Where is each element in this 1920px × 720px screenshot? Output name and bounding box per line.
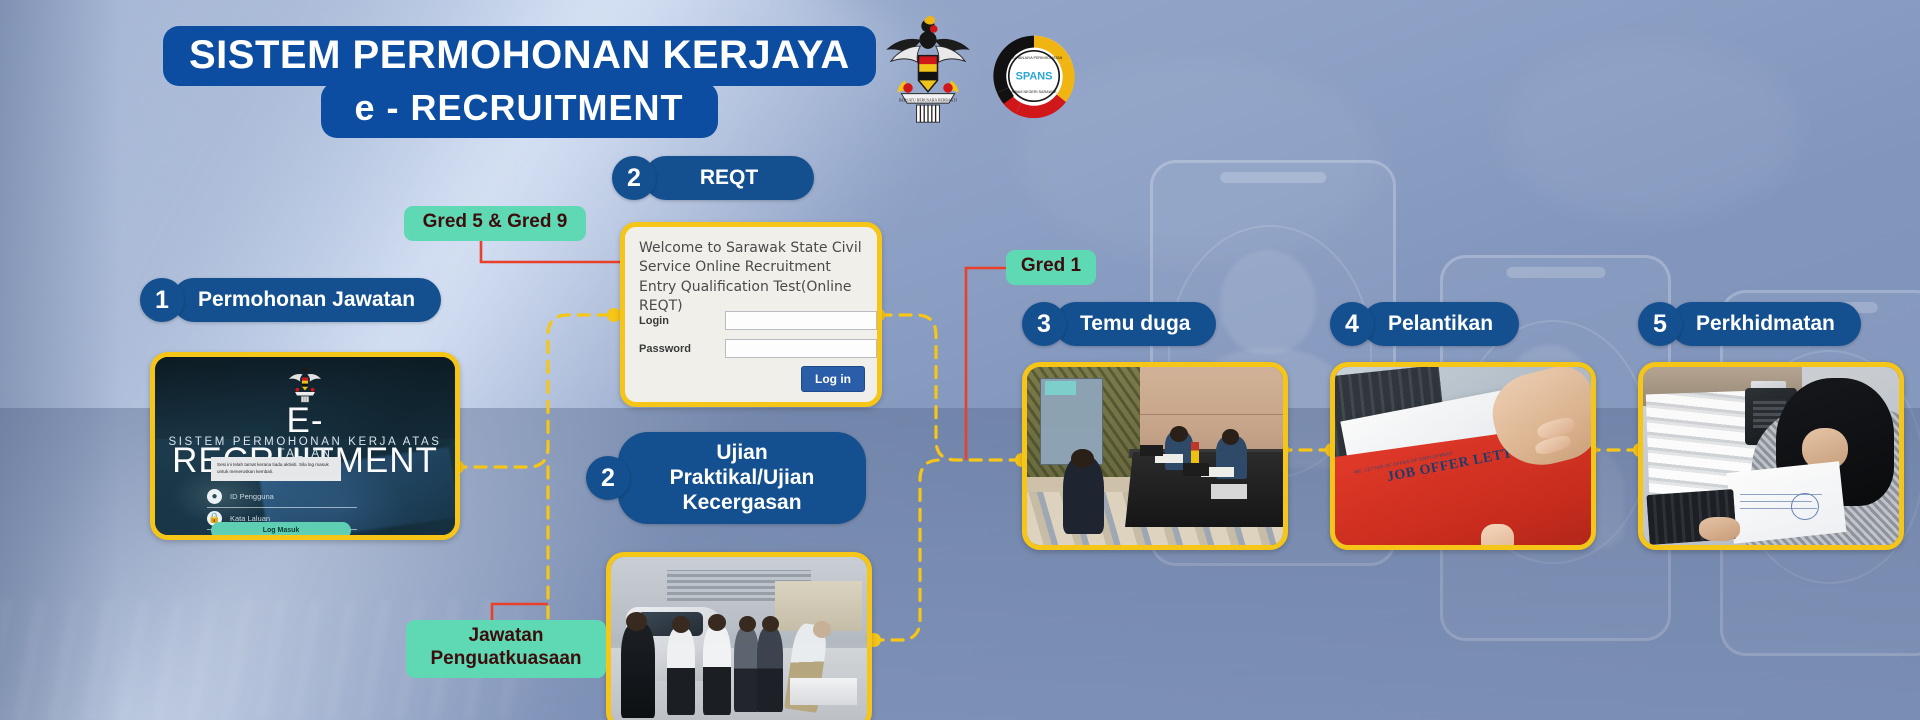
- page-title: SISTEM PERMOHONAN KERJAYA e - RECRUITMEN…: [163, 26, 875, 138]
- tag-gred-1: Gred 1: [1006, 250, 1096, 285]
- photo-service-officer[interactable]: [1638, 362, 1904, 550]
- tag-jawatan-penguatkuasaan: Jawatan Penguatkuasaan: [406, 620, 606, 678]
- spans-logo-icon: SPANS SURUHANJAYA PERKHIDMATAN AWAM NEGE…: [992, 34, 1076, 118]
- tag-gred-5-and-9: Gred 5 & Gred 9: [404, 206, 586, 241]
- svg-text:AWAM NEGERI SARAWAK: AWAM NEGERI SARAWAK: [1011, 90, 1057, 94]
- reqt-login-input[interactable]: [725, 311, 877, 330]
- step-2-ujian-praktikal[interactable]: 2 Ujian Praktikal/Ujian Kecergasan: [586, 432, 866, 524]
- step-4-label: Pelantikan: [1362, 302, 1519, 346]
- reqt-login-button[interactable]: Log in: [801, 366, 865, 392]
- infographic-canvas: SISTEM PERMOHONAN KERJAYA e - RECRUITMEN…: [0, 0, 1920, 720]
- reqt-password-input[interactable]: [725, 339, 877, 358]
- reqt-login-row[interactable]: Login: [639, 311, 877, 330]
- reqt-password-row[interactable]: Password: [639, 339, 877, 358]
- step-5-number: 5: [1638, 302, 1682, 346]
- photo-practical-test[interactable]: [606, 552, 872, 720]
- step-4-pelantikan[interactable]: 4 Pelantikan: [1330, 302, 1519, 346]
- svg-text:SURUHANJAYA PERKHIDMATAN: SURUHANJAYA PERKHIDMATAN: [1006, 56, 1063, 60]
- step-2-praktikal-label: Ujian Praktikal/Ujian Kecergasan: [618, 432, 866, 524]
- svg-text:BERSATU BERUSAHA BERBAKTI: BERSATU BERUSAHA BERBAKTI: [899, 98, 958, 102]
- step-2-reqt-number: 2: [612, 156, 656, 200]
- reqt-welcome-text: Welcome to Sarawak State Civil Service O…: [639, 239, 863, 316]
- step-1-permohonan-jawatan[interactable]: 1 Permohonan Jawatan: [140, 278, 441, 322]
- step-2-reqt[interactable]: 2 REQT: [612, 156, 814, 200]
- step-4-number: 4: [1330, 302, 1374, 346]
- photo-erecruitment-login-screenshot[interactable]: E-RECRUITMENT SISTEM PERMOHONAN KERJA AT…: [150, 352, 460, 540]
- step-3-temu-duga[interactable]: 3 Temu duga: [1022, 302, 1216, 346]
- step-2-praktikal-number: 2: [586, 456, 630, 500]
- photo-job-offer-letter[interactable]: WE, LETTER OF OFFER OF EMPLOYMENT JOB OF…: [1330, 362, 1596, 550]
- step-5-perkhidmatan[interactable]: 5 Perkhidmatan: [1638, 302, 1861, 346]
- photo-interview-panel[interactable]: [1022, 362, 1288, 550]
- svg-text:SPANS: SPANS: [1016, 70, 1053, 82]
- reqt-login-card[interactable]: Welcome to Sarawak State Civil Service O…: [620, 222, 882, 407]
- step-1-number: 1: [140, 278, 184, 322]
- step-1-label: Permohonan Jawatan: [172, 278, 441, 322]
- step-5-label: Perkhidmatan: [1670, 302, 1861, 346]
- sarawak-coat-of-arms-icon: BERSATU BERUSAHA BERBAKTI: [880, 8, 976, 126]
- reqt-password-label: Password: [639, 343, 725, 355]
- step-3-number: 3: [1022, 302, 1066, 346]
- step-2-reqt-label: REQT: [644, 156, 814, 200]
- reqt-login-label: Login: [639, 315, 725, 327]
- logo-group: BERSATU BERUSAHA BERBAKTI SPANS SURUHANJ…: [880, 8, 1076, 126]
- step-3-label: Temu duga: [1054, 302, 1216, 346]
- title-line-2: e - RECRUITMENT: [321, 82, 718, 138]
- title-line-1: SISTEM PERMOHONAN KERJAYA: [163, 26, 876, 86]
